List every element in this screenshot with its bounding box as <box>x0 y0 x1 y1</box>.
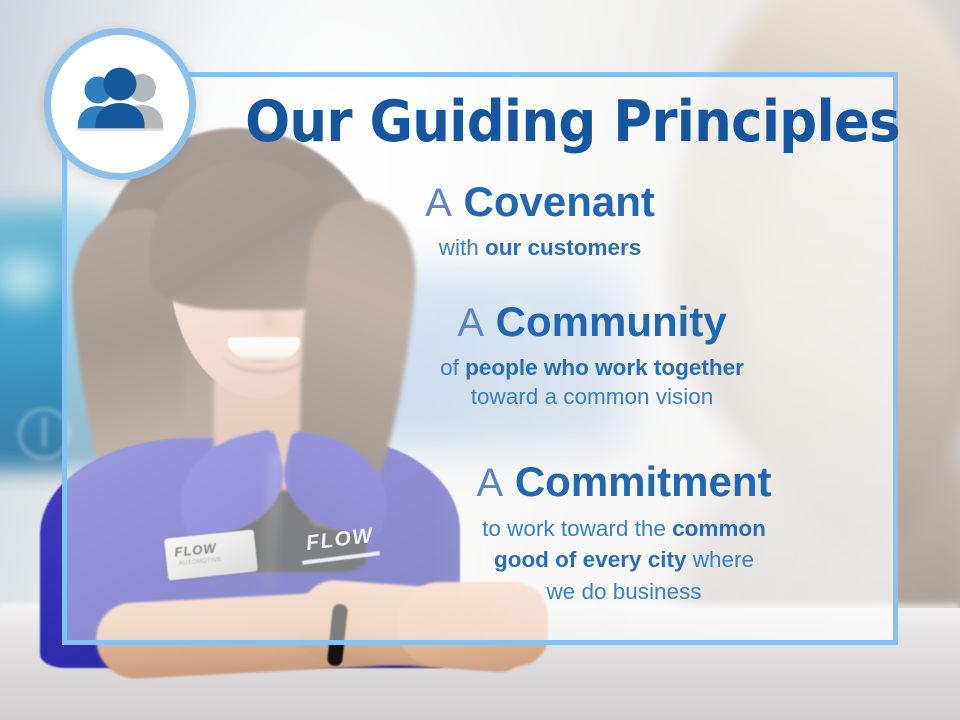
plain-text: toward a common vision <box>471 384 714 409</box>
principle-heading: A Commitment <box>354 460 894 505</box>
plain-text: we do business <box>546 579 701 604</box>
principle-covenant: A Covenant with our customers <box>260 180 820 262</box>
principle-heading: A Community <box>312 300 872 345</box>
emphasis-text: common <box>672 516 766 541</box>
page-title: Our Guiding Principles <box>245 94 859 151</box>
principle-keyword: Commitment <box>515 458 772 505</box>
principle-heading: A Covenant <box>260 180 820 225</box>
poster-content: Our Guiding Principles A Covenant with o… <box>62 72 898 645</box>
principle-description: with our customers <box>260 233 820 263</box>
plain-text: with <box>439 235 485 260</box>
plain-text: to work toward the <box>482 516 672 541</box>
principle-article: A <box>476 461 503 505</box>
emphasis-text: people who work together <box>465 355 744 380</box>
principle-article: A <box>457 301 484 345</box>
principle-description: of people who work togethertoward a comm… <box>312 353 872 413</box>
plain-text: where <box>687 547 755 572</box>
principle-community: A Community of people who work togethert… <box>312 300 872 412</box>
principle-description: to work toward the commongood of every c… <box>354 513 894 609</box>
emphasis-text: good of every city <box>494 547 687 572</box>
guiding-principles-poster: FLOW AUTOMOTIVE FLOW Our Guid <box>0 0 960 720</box>
principle-keyword: Covenant <box>464 178 655 225</box>
principle-keyword: Community <box>496 298 727 345</box>
emphasis-text: our customers <box>485 235 641 260</box>
plain-text: of <box>440 355 465 380</box>
principle-commitment: A Commitment to work toward the commongo… <box>354 460 894 608</box>
principle-article: A <box>425 181 452 225</box>
